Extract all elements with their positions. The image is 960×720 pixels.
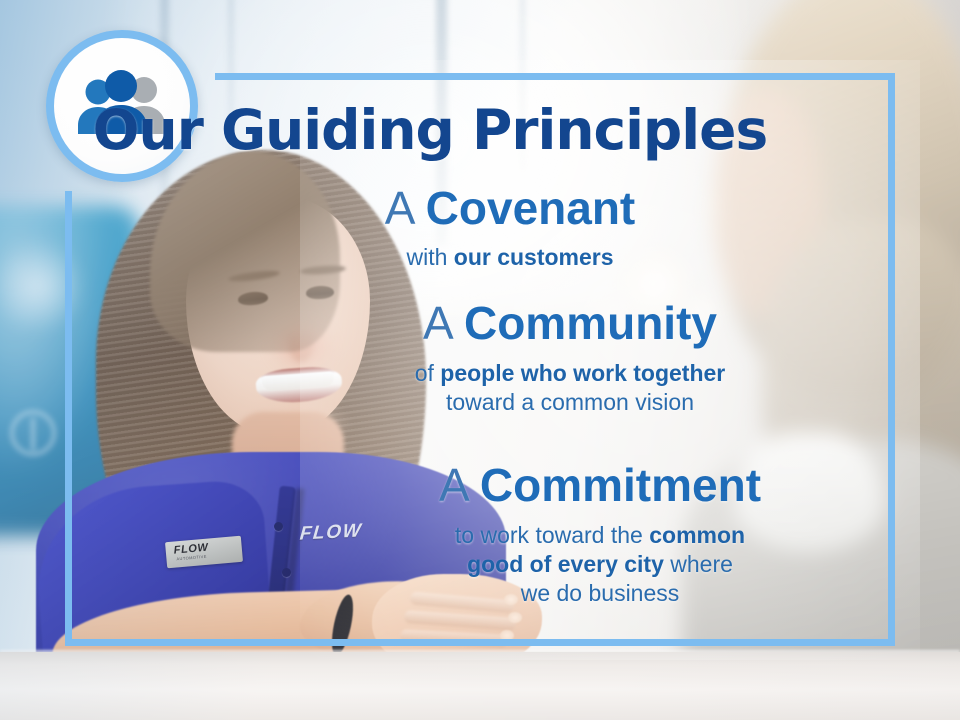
bokeh-light <box>596 300 630 334</box>
customer-collar <box>734 432 884 552</box>
polo-button <box>274 522 283 531</box>
employee-fingernail <box>500 630 514 641</box>
people-group-icon <box>70 70 174 142</box>
employee-fingernail <box>508 612 522 623</box>
people-badge <box>46 30 198 182</box>
employee-fingernail <box>504 594 518 605</box>
flow-chest-logo: FLOW <box>299 520 363 545</box>
white-table <box>0 652 960 720</box>
polo-button <box>282 568 291 577</box>
blurred-customer <box>700 0 960 720</box>
guiding-principles-poster: FLOW FLOW AUTOMOTIVE <box>0 0 960 720</box>
